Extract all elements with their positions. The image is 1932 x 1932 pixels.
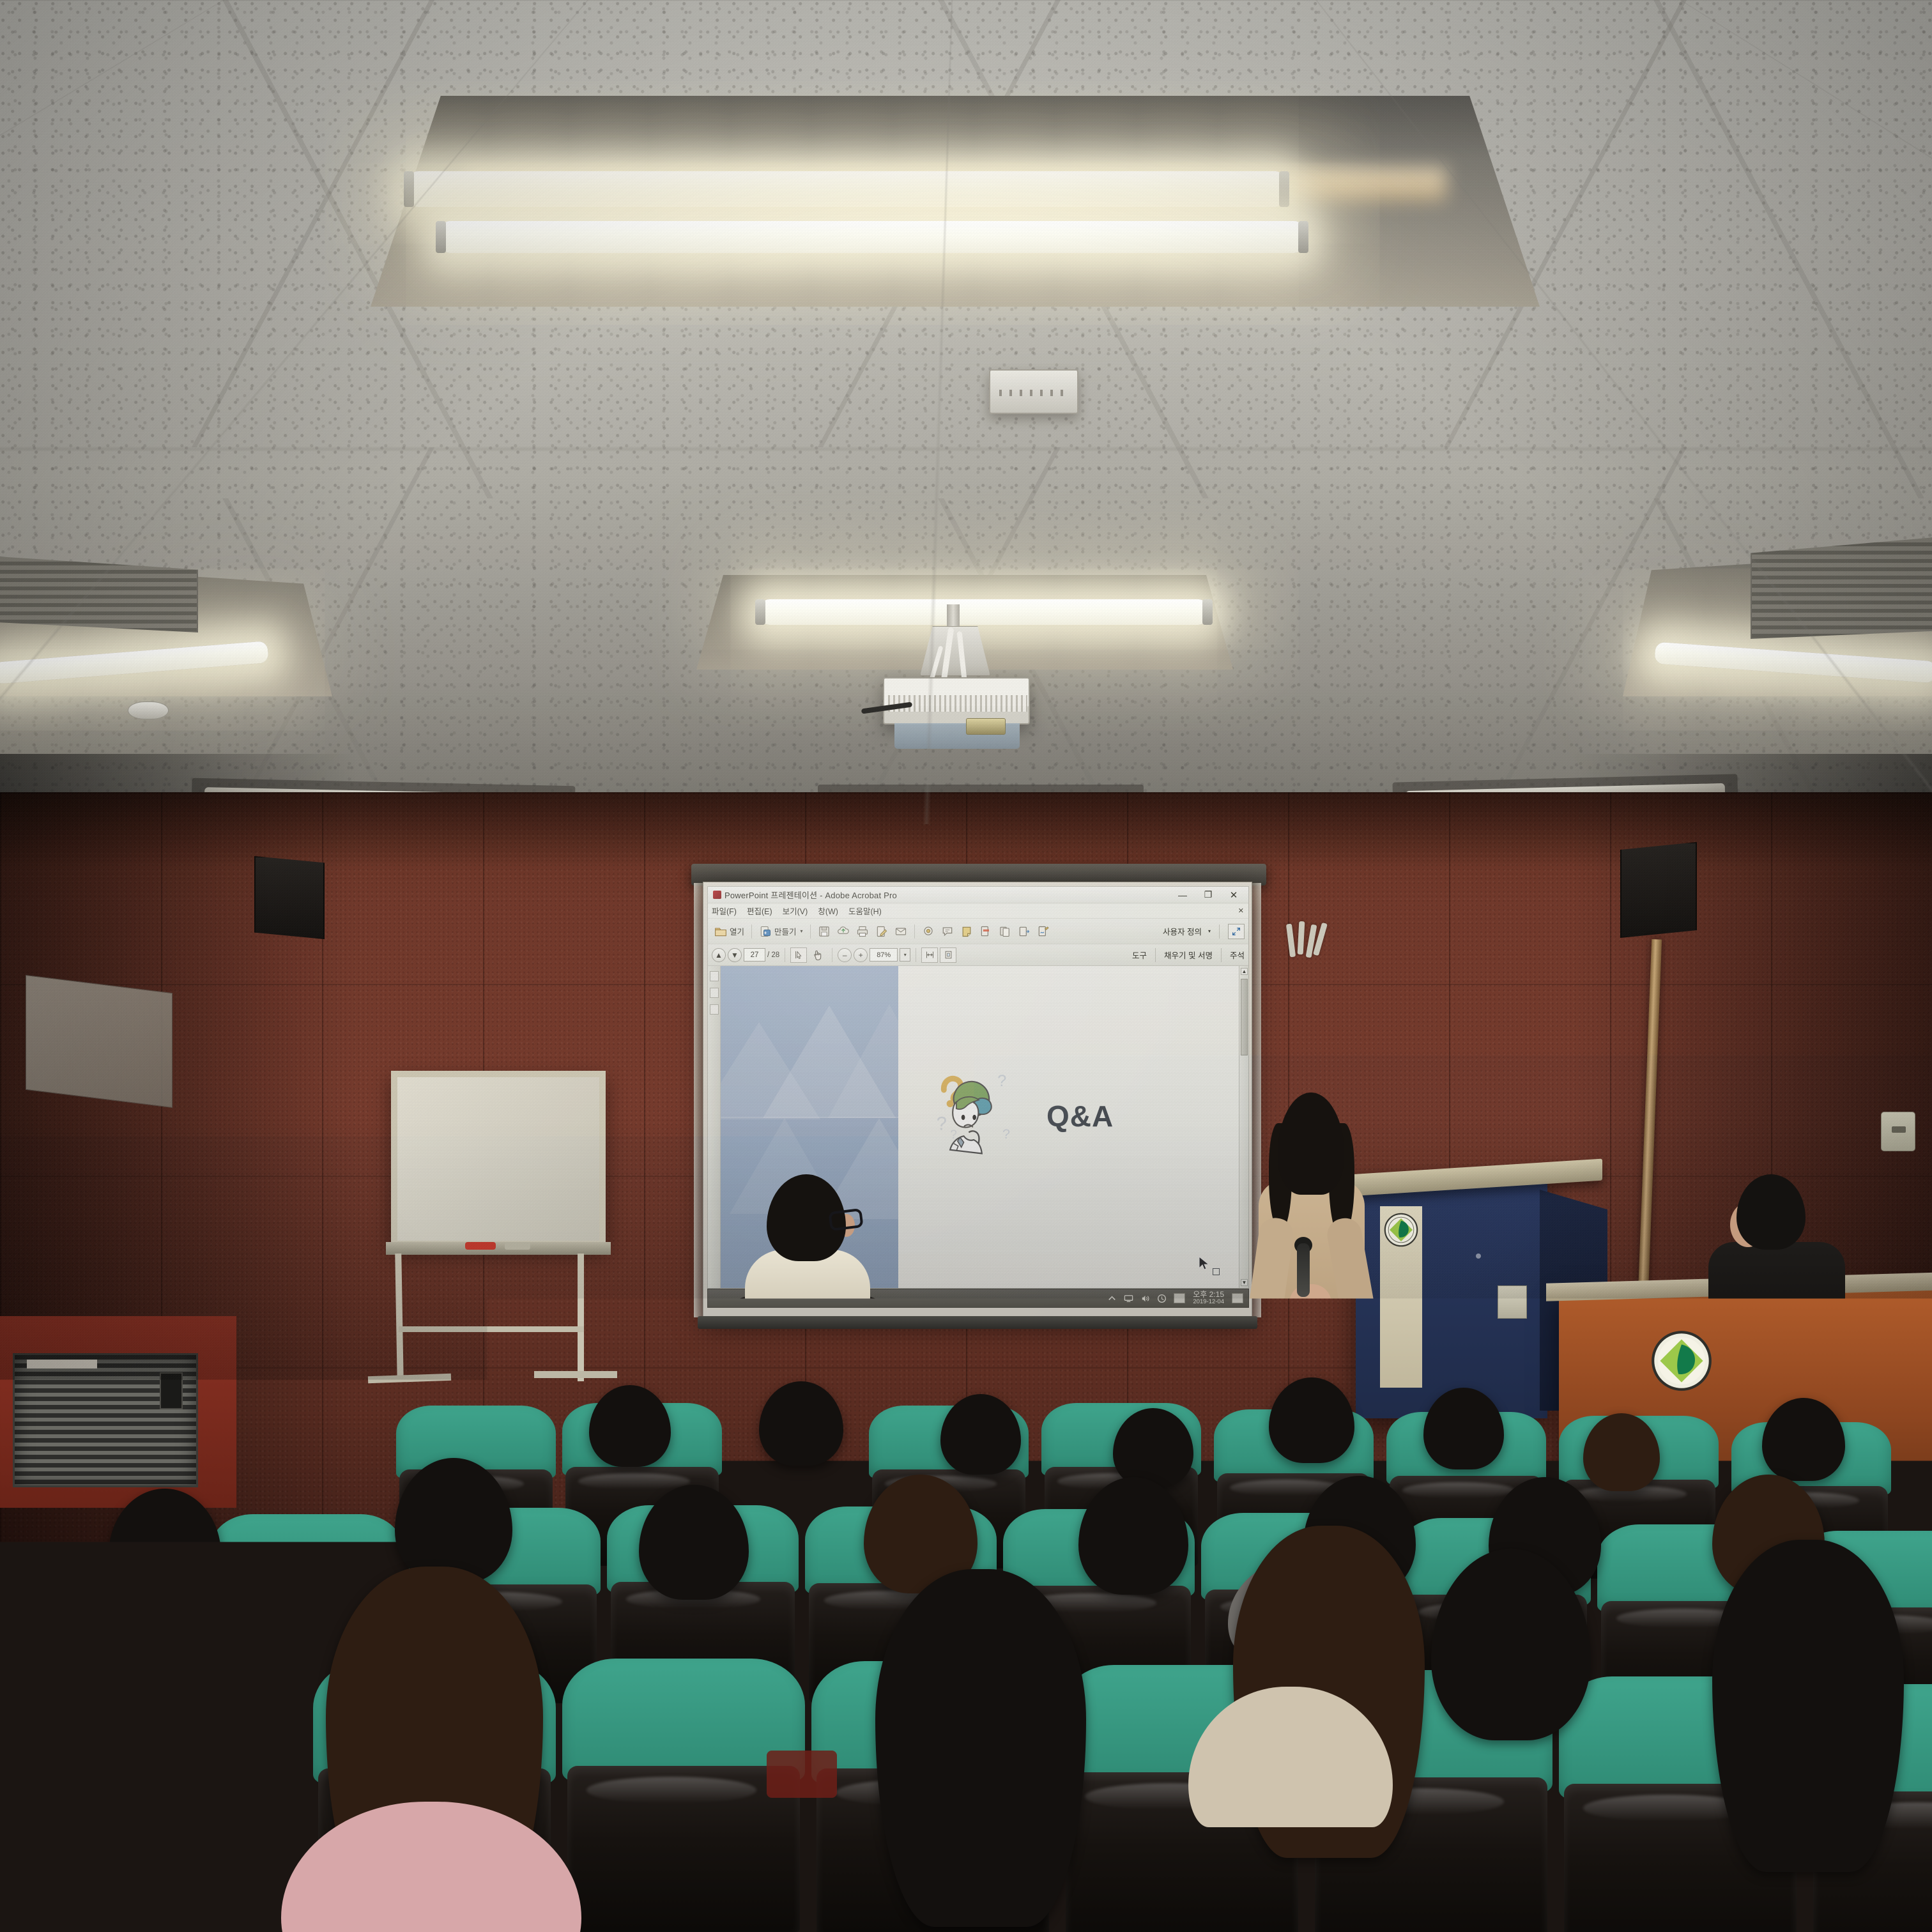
selection-handle [1213, 1268, 1220, 1275]
zoom-level-input[interactable]: 87% [870, 948, 898, 962]
fill-and-sign-tab[interactable]: 채우기 및 서명 [1164, 949, 1213, 961]
menu-item-view[interactable]: 보기(V) [783, 905, 808, 917]
select-cursor-icon[interactable] [790, 947, 807, 963]
print-icon [856, 925, 869, 938]
extract-page-icon [1018, 925, 1031, 938]
mobile-whiteboard[interactable] [391, 1071, 606, 1247]
minimize-button[interactable]: — [1170, 887, 1195, 903]
audience-head-front-a [0, 1552, 153, 1872]
scrollbar-thumb[interactable] [1241, 979, 1248, 1055]
whiteboard-stand-crossbar [399, 1326, 584, 1332]
maximize-button[interactable]: ❐ [1196, 887, 1220, 903]
wall-grey-panel [26, 975, 172, 1108]
radiator-control-knob[interactable] [160, 1372, 183, 1409]
page-thumbnails-button[interactable] [710, 971, 719, 981]
customize-label[interactable]: 사용자 정의 [1163, 925, 1202, 937]
create-button[interactable]: 만들기 ▾ [756, 923, 806, 940]
minus-circle-icon[interactable]: – [838, 948, 852, 962]
hand-tool-icon[interactable] [809, 946, 827, 964]
fluorescent-tube-2 [441, 221, 1303, 253]
slide-content: ? ? ? ? [898, 966, 1239, 1288]
cloud-upload-icon [837, 925, 850, 938]
standing-student [717, 1174, 896, 1506]
create-label: 만들기 [774, 925, 797, 937]
nav-separator-1 [785, 948, 785, 962]
thinking-person-illustration: ? ? ? ? [928, 1065, 1027, 1167]
side-staff-member [1712, 1174, 1846, 1366]
presenter-hair [1278, 1092, 1344, 1195]
email-icon [894, 925, 907, 938]
wall-power-outlet[interactable] [1881, 1112, 1915, 1151]
document-scrollbar[interactable]: ▲ ▼ [1239, 966, 1248, 1288]
green-leaf-emblem-lectern [1384, 1213, 1418, 1247]
red-item-on-seat[interactable] [75, 1876, 119, 1931]
lectern-power-outlet[interactable] [1498, 1285, 1527, 1319]
slide-heading: Q&A [1046, 1099, 1114, 1133]
qa-block: ? ? ? ? [928, 1065, 1114, 1167]
hanging-keys [1284, 921, 1329, 961]
svg-text:?: ? [1002, 1126, 1010, 1142]
show-hidden-icons-chevron[interactable] [1107, 1294, 1117, 1303]
ceiling-projector [883, 664, 1030, 747]
notification-icon[interactable] [1232, 1293, 1243, 1303]
highlight-button[interactable] [977, 923, 995, 940]
fit-width-icon[interactable] [921, 947, 938, 963]
nav-separator-5 [1221, 948, 1222, 962]
cloud-upload-button[interactable] [834, 923, 852, 940]
audience-head-front-c [875, 1569, 1086, 1927]
presenter-hands [1289, 1284, 1331, 1322]
standing-student-jacket [723, 1296, 892, 1506]
green-leaf-emblem-desk [1651, 1330, 1712, 1391]
microphone-body [1297, 1243, 1310, 1297]
arrow-down-circle-icon[interactable]: ▼ [728, 948, 742, 962]
fluorescent-tube-3 [760, 599, 1207, 625]
wall-speaker-right [1620, 842, 1697, 938]
create-pdf-icon [759, 925, 772, 938]
whiteboard-eraser[interactable] [505, 1242, 530, 1250]
open-label: 열기 [730, 925, 744, 937]
network-monitor-icon[interactable] [1124, 1294, 1133, 1303]
nav-separator-3 [916, 948, 916, 962]
side-staff-hand [1716, 1316, 1743, 1338]
system-tray[interactable] [1107, 1293, 1185, 1303]
primary-toolbar[interactable]: 열기 만들기 ▾ [708, 919, 1248, 944]
comment-tab[interactable]: 주석 [1230, 949, 1245, 961]
edit-pdf-icon [875, 925, 888, 938]
taskbar-clock[interactable]: 오후 2:15 2019-12-04 [1193, 1291, 1224, 1305]
scroll-down-arrow[interactable]: ▼ [1241, 1279, 1248, 1286]
page-total-label: / 28 [767, 951, 779, 959]
save-button[interactable] [815, 923, 833, 940]
page-number-input[interactable]: 27 [744, 948, 765, 962]
window-titlebar[interactable]: PowerPoint 프레젠테이션 - Adobe Acrobat Pro — … [708, 887, 1248, 903]
nav-separator-4 [1155, 948, 1156, 962]
svg-text:?: ? [997, 1072, 1006, 1090]
fit-page-icon[interactable] [940, 947, 956, 963]
customize-chevron-down-icon[interactable]: ▾ [1208, 928, 1211, 934]
window-controls[interactable]: — ❐ ✕ [1170, 887, 1246, 903]
bookmarks-button[interactable] [710, 988, 719, 998]
arrow-up-circle-icon[interactable]: ▲ [712, 948, 726, 962]
save-icon [818, 925, 831, 938]
whiteboard-marker-red[interactable] [465, 1242, 496, 1250]
open-button[interactable]: 열기 [712, 923, 747, 940]
copy-page-button[interactable] [996, 923, 1014, 940]
zoom-chevron-down-icon[interactable]: ▾ [900, 948, 910, 962]
menu-bar[interactable]: 파일(F) 편집(E) 보기(V) 창(W) 도움말(H) ✕ [708, 903, 1248, 919]
email-button[interactable] [892, 923, 910, 940]
stamp-button[interactable] [919, 923, 937, 940]
whiteboard-marker-tray [386, 1242, 611, 1255]
page-total: 28 [771, 951, 779, 959]
toolbar-separator-1 [751, 924, 752, 939]
document-close-icon[interactable]: ✕ [1238, 907, 1244, 915]
nav-right-group[interactable]: 도구 채우기 및 서명 주석 [1132, 948, 1245, 962]
comment-bubble-button[interactable] [939, 923, 956, 940]
eyeglasses [828, 1208, 863, 1231]
attachments-button[interactable] [710, 1004, 719, 1015]
menu-item-edit[interactable]: 편집(E) [747, 905, 772, 917]
toolbar-separator-4 [1219, 924, 1220, 939]
slide-triangle-3 [828, 1004, 898, 1118]
copy-page-icon [999, 925, 1011, 938]
whiteboard-foot-right [534, 1371, 617, 1378]
signature-button[interactable] [1034, 923, 1052, 940]
signature-icon [1037, 925, 1050, 938]
auditorium-scene: PowerPoint 프레젠테이션 - Adobe Acrobat Pro — … [0, 0, 1932, 1932]
chevron-down-icon[interactable]: ▾ [801, 928, 803, 934]
comment-bubble-icon [941, 925, 954, 938]
edit-pdf-button[interactable] [873, 923, 891, 940]
folder-open-icon [714, 925, 727, 938]
acrobat-app-icon [713, 891, 721, 899]
projector-body [883, 677, 1030, 724]
close-button[interactable]: ✕ [1222, 887, 1246, 903]
presenter-watch [1328, 1307, 1342, 1317]
extract-page-button[interactable] [1015, 923, 1033, 940]
side-staff-torso [1708, 1242, 1845, 1370]
nav-separator-2 [832, 948, 832, 962]
sensor-vent-dots [999, 390, 1071, 396]
menu-item-window[interactable]: 창(W) [818, 905, 838, 917]
ime-korean-icon[interactable] [1174, 1293, 1185, 1303]
fluorescent-tube-1 [409, 171, 1284, 207]
radiator-label-strip [27, 1360, 97, 1368]
mouse-pointer [1198, 1256, 1212, 1271]
sticky-note-icon [960, 925, 973, 938]
side-staff-head [1736, 1174, 1805, 1250]
toolbar-right-group[interactable]: 사용자 정의 ▾ [1163, 924, 1245, 939]
lectern-screw [1476, 1253, 1481, 1259]
toolbar-separator-3 [914, 924, 915, 939]
whiteboard-stand-leg-right [578, 1253, 584, 1381]
toolbar-separator-2 [810, 924, 811, 939]
svg-text:?: ? [937, 1114, 947, 1134]
audience-head-front-f [1712, 1540, 1904, 1872]
projector-lens [966, 718, 1006, 735]
print-button[interactable] [854, 923, 871, 940]
clock-date: 2019-12-04 [1193, 1299, 1224, 1305]
stamp-icon [922, 925, 935, 938]
volume-icon[interactable] [1140, 1294, 1150, 1303]
tools-tab[interactable]: 도구 [1132, 949, 1147, 961]
page-separator: / [767, 951, 769, 959]
onedrive-icon[interactable] [1157, 1294, 1167, 1303]
navigation-toolbar[interactable]: ▲ ▼ 27 / 28 – + 87% ▾ [708, 944, 1248, 966]
expand-arrows-icon[interactable] [1228, 924, 1245, 939]
slide-panel-band [721, 1117, 898, 1118]
wall-speaker-left [254, 856, 325, 939]
sticky-note-button[interactable] [958, 923, 976, 940]
scroll-up-arrow[interactable]: ▲ [1241, 968, 1248, 975]
menu-item-help[interactable]: 도움말(H) [848, 905, 882, 917]
highlight-icon [979, 925, 992, 938]
outlet-slot [1892, 1126, 1906, 1133]
plus-circle-icon[interactable]: + [854, 948, 868, 962]
smoke-detector [128, 701, 169, 719]
air-vent-right [1751, 537, 1932, 639]
red-accessory [767, 1751, 837, 1798]
ceiling-sensor-box [989, 369, 1078, 414]
menu-item-file[interactable]: 파일(F) [712, 905, 737, 917]
window-title: PowerPoint 프레젠테이션 - Adobe Acrobat Pro [724, 889, 897, 901]
